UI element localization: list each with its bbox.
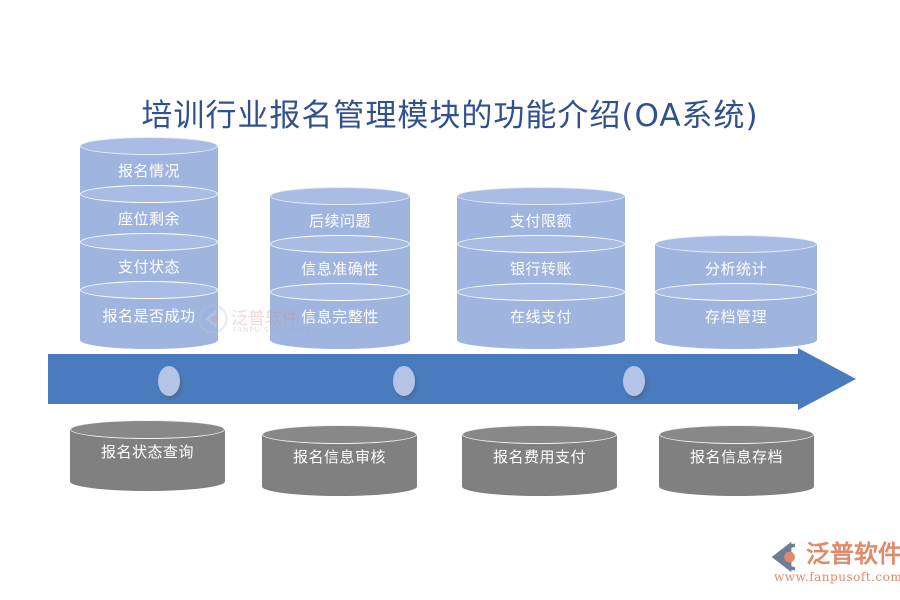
process-step[interactable]: 报名费用支付 (462, 425, 617, 487)
archive-stack: 分析统计 存档管理 (655, 244, 817, 340)
brand-name: 泛普软件 (806, 540, 900, 568)
fanpu-logo-icon (768, 540, 804, 574)
cylinder-segment[interactable]: 报名是否成功 (80, 290, 218, 340)
cylinder-segment-label: 报名情况 (80, 146, 218, 194)
page-title: 培训行业报名管理模块的功能介绍(OA系统) (0, 96, 900, 136)
cylinder-segment-label: 支付限额 (457, 196, 625, 244)
milestone-marker[interactable] (623, 366, 645, 396)
cylinder-segment[interactable]: 支付限额 (457, 196, 625, 244)
cylinder-segment-label: 分析统计 (655, 244, 817, 292)
cylinder-segment-label: 支付状态 (80, 242, 218, 290)
process-step-label: 报名状态查询 (70, 420, 225, 482)
cylinder-segment[interactable]: 报名情况 (80, 146, 218, 194)
registration-status-stack: 报名情况 座位剩余 支付状态 报名是否成功 (80, 146, 218, 340)
cylinder-segment-label: 信息准确性 (270, 244, 410, 292)
cylinder-segment[interactable]: 信息准确性 (270, 244, 410, 292)
milestone-marker[interactable] (393, 366, 415, 396)
brand-url: www.fanpusoft.com (774, 570, 900, 584)
cylinder-segment[interactable]: 信息完整性 (270, 292, 410, 340)
brand-logo: 泛普软件 www.fanpusoft.com (768, 540, 896, 588)
process-step-label: 报名信息审核 (262, 425, 417, 487)
payment-stack: 支付限额 银行转账 在线支付 (457, 196, 625, 340)
cylinder-segment[interactable]: 银行转账 (457, 244, 625, 292)
cylinder-segment-label: 后续问题 (270, 196, 410, 244)
cylinder-segment[interactable]: 支付状态 (80, 242, 218, 290)
process-step[interactable]: 报名状态查询 (70, 420, 225, 482)
slide-canvas: 培训行业报名管理模块的功能介绍(OA系统) 报名情况 座位剩余 支付状态 报名是… (0, 0, 900, 600)
cylinder-segment-label: 银行转账 (457, 244, 625, 292)
process-step[interactable]: 报名信息审核 (262, 425, 417, 487)
milestone-marker[interactable] (158, 366, 180, 396)
cylinder-segment[interactable]: 在线支付 (457, 292, 625, 340)
process-step[interactable]: 报名信息存档 (659, 425, 814, 487)
cylinder-segment[interactable]: 后续问题 (270, 196, 410, 244)
cylinder-segment-label: 在线支付 (457, 292, 625, 340)
process-step-label: 报名费用支付 (462, 425, 617, 487)
cylinder-segment[interactable]: 座位剩余 (80, 194, 218, 242)
process-step-label: 报名信息存档 (659, 425, 814, 487)
cylinder-segment-label: 存档管理 (655, 292, 817, 340)
cylinder-segment-label: 座位剩余 (80, 194, 218, 242)
information-review-stack: 后续问题 信息准确性 信息完整性 (270, 196, 410, 340)
cylinder-segment-label: 信息完整性 (270, 292, 410, 340)
cylinder-segment-label: 报名是否成功 (80, 290, 218, 340)
cylinder-segment[interactable]: 分析统计 (655, 244, 817, 292)
cylinder-segment[interactable]: 存档管理 (655, 292, 817, 340)
